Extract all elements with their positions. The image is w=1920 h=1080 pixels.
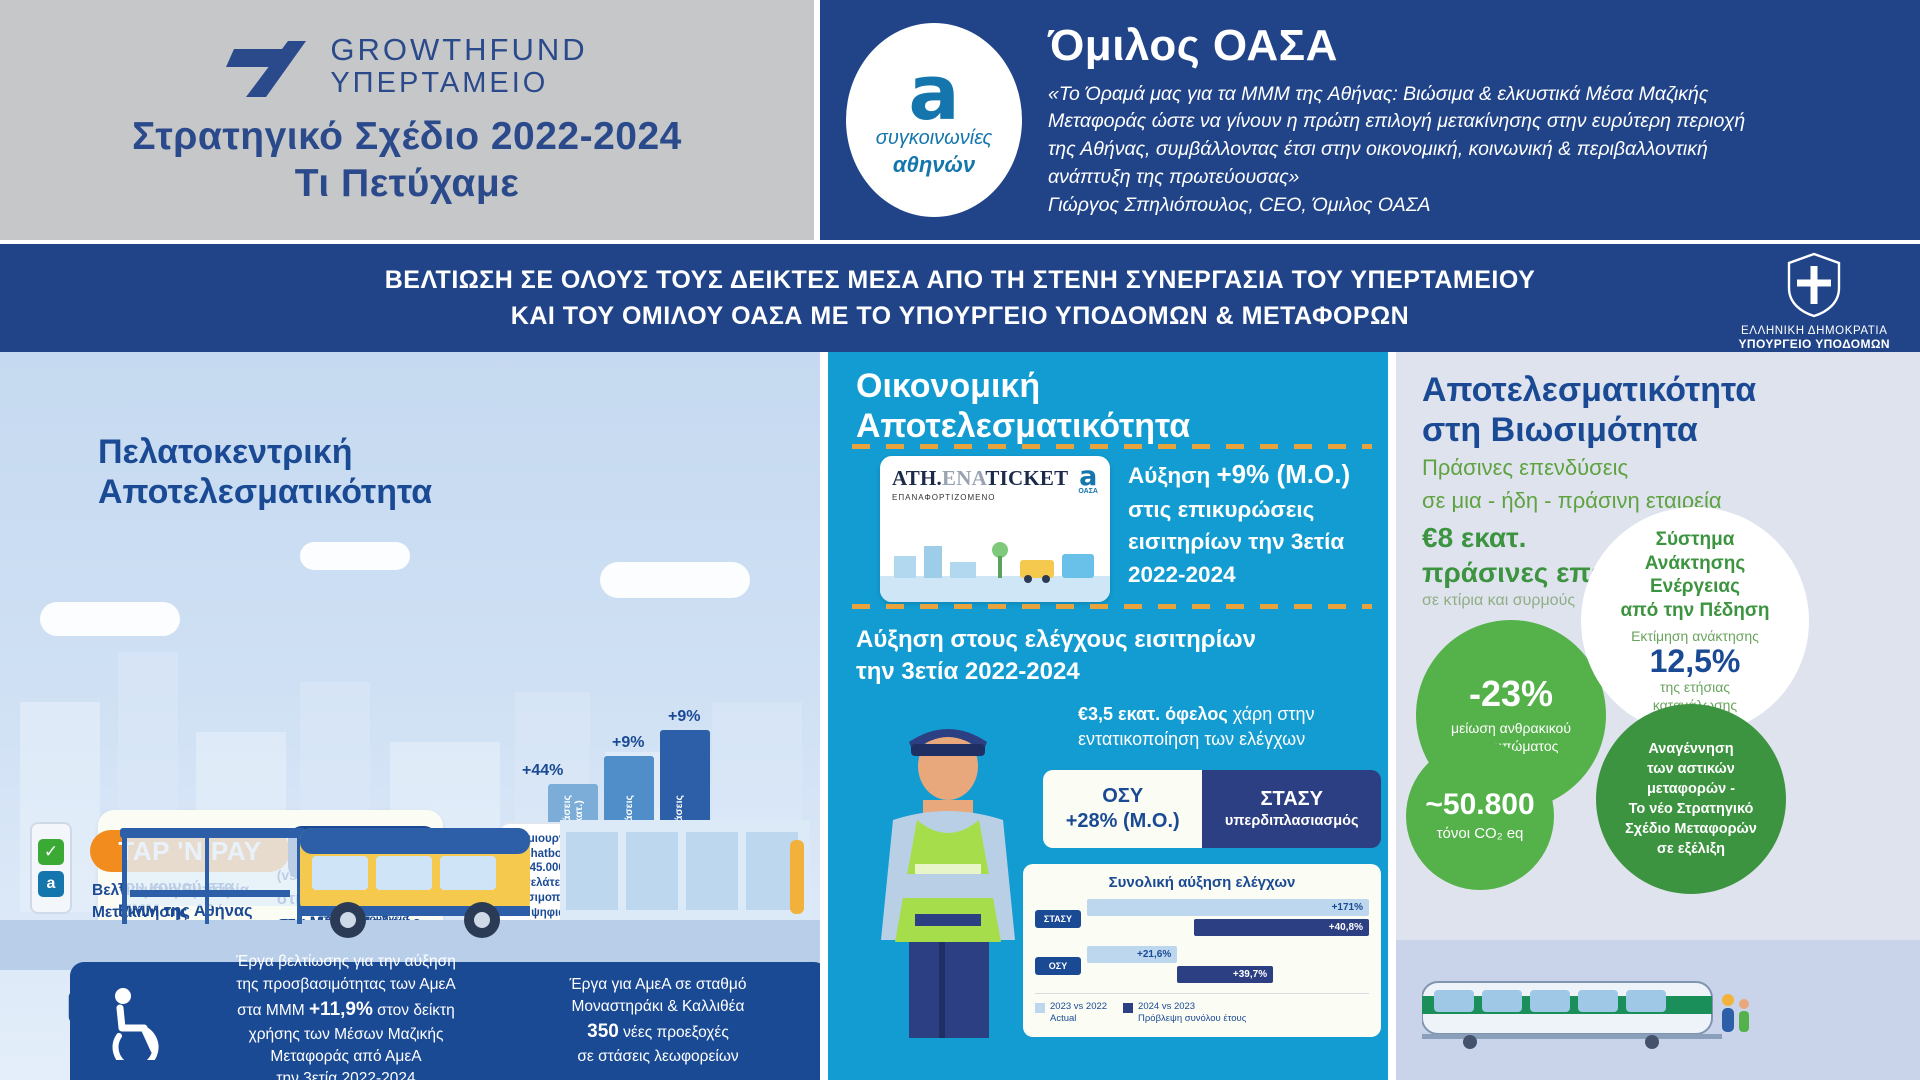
growthfund-arrow-logo xyxy=(226,35,312,97)
energy-recovery-line4: από την Πέδηση xyxy=(1620,599,1769,623)
checks-line2: την 3ετία 2022-2024 xyxy=(856,656,1376,688)
co2-tons-unit: τόνοι CO₂ eq xyxy=(1437,824,1524,844)
top-header: GROWTHFUND ΥΠΕΡΤΑΜΕΙΟ Στρατηγικό Σχέδιο … xyxy=(0,0,1920,240)
energy-recovery-line2: Ανάκτησης xyxy=(1620,552,1769,576)
oasa-badge-line1: συγκοινωνίες xyxy=(876,127,992,150)
stasy-value: υπερδιπλασιασμός xyxy=(1225,812,1359,830)
validations-line4: 2022-2024 xyxy=(1128,559,1378,592)
osy-bar-2024: +39,7% xyxy=(1177,966,1273,983)
legend-item-2023: 2023 vs 2022Actual xyxy=(1035,1001,1107,1025)
ticket-oasa-logo: a ΟΑΣΑ xyxy=(1078,466,1098,495)
osy-stasy-comparison: ΟΣΥ +28% (Μ.Ο.) ΣΤΑΣΥ υπερδιπλασιασμός xyxy=(1043,770,1381,848)
benefit-amount: €3,5 εκατ. όφελος xyxy=(1078,704,1228,724)
divider-dashed-1 xyxy=(852,444,1372,449)
page-title: Στρατηγικό Σχέδιο 2022-2024 Τι Πετύχαμε xyxy=(132,114,682,208)
page-title-line1: Στρατηγικό Σχέδιο 2022-2024 xyxy=(132,114,682,161)
osy-card: ΟΣΥ +28% (Μ.Ο.) xyxy=(1043,770,1202,848)
oasa-panel: a συγκοινωνίες αθηνών Όμιλος ΟΑΣΑ «Το Όρ… xyxy=(820,0,1920,240)
acc2-line3: 350 νέες προεξοχές xyxy=(518,1018,798,1046)
acc1-line3: στα ΜΜΜ +11,9% στον δείκτη xyxy=(196,996,496,1024)
legend-swatch-2023 xyxy=(1035,1003,1045,1013)
economic-title-line1: Οικονομική xyxy=(856,367,1040,405)
acc2-bold-value: 350 xyxy=(587,1021,619,1042)
legend-swatch-2024 xyxy=(1123,1003,1133,1013)
ticket-checks-heading: Αύξηση στους ελέγχους εισιτηρίων την 3ετ… xyxy=(856,624,1376,689)
tram-illustration xyxy=(1422,974,1752,1052)
ticket-letter-a: a xyxy=(1078,466,1098,488)
oasa-quote-author: Γιώργος Σπηλιόπουλος, CEO, Όμιλος ΟΑΣΑ xyxy=(1048,192,1745,220)
acc1-prefix: στα ΜΜΜ xyxy=(237,1002,309,1019)
economic-column-title: Οικονομική Αποτελεσματικότητα xyxy=(856,366,1356,446)
main-columns: Πελατοκεντρική Αποτελεσματικότητα +44% 4… xyxy=(0,352,1920,1080)
stasy-label: ΣΤΑΣΥ xyxy=(1260,787,1323,812)
ticket-brand-b: ENA xyxy=(942,466,985,490)
growthfund-panel: GROWTHFUND ΥΠΕΡΤΑΜΕΙΟ Στρατηγικό Σχέδιο … xyxy=(0,0,820,240)
benefit-line1: €3,5 εκατ. όφελος χάρη στην xyxy=(1078,702,1378,727)
urban-renewal-line5: Σχέδιο Μεταφορών xyxy=(1625,819,1757,839)
hellenic-republic-emblem-icon xyxy=(1785,252,1843,318)
ministry-line2: ΥΠΟΥΡΓΕΙΟ ΥΠΟΔΟΜΩΝ xyxy=(1739,337,1890,351)
oasa-text-block: Όμιλος ΟΑΣΑ «Το Όραμά μας για τα ΜΜΜ της… xyxy=(1048,21,1745,219)
checks-line1: Αύξηση στους ελέγχους εισιτηρίων xyxy=(856,624,1376,656)
acc1-line6: την 3ετία 2022-2024 xyxy=(196,1068,496,1080)
urban-renewal-line3: μεταφορών - xyxy=(1625,779,1757,799)
ticket-brand-name: ATH.ENATICKET xyxy=(892,466,1068,491)
sustainability-subtitle-line1: Πράσινες επενδύσεις xyxy=(1422,454,1862,483)
cloud-decoration xyxy=(300,542,410,570)
urban-renewal-circle: Αναγέννηση των αστικών μεταφορών - Το νέ… xyxy=(1596,704,1786,894)
oasa-logo-badge: a συγκοινωνίες αθηνών xyxy=(846,23,1022,217)
benefit-rest: χάρη στην xyxy=(1228,704,1315,724)
acc2-line4: σε στάσεις λεωφορείων xyxy=(518,1046,798,1068)
oasa-letter-a: a xyxy=(908,62,959,124)
growthfund-line1: GROWTHFUND xyxy=(330,33,587,68)
stasy-bar-2023: +171% xyxy=(1087,899,1369,916)
checks-chart-title: Συνολική αύξηση ελέγχων xyxy=(1035,874,1369,891)
osy-value: +28% (Μ.Ο.) xyxy=(1066,809,1180,834)
acc2-line1: Έργα για ΑμεΑ σε σταθμό xyxy=(518,974,798,996)
oasa-quote-line2: Μεταφοράς ώστε να γίνουν η πρώτη επιλογή… xyxy=(1048,108,1745,136)
osy-bar-2023: +21,6% xyxy=(1087,946,1177,963)
customer-column-title: Πελατοκεντρική Αποτελεσματικότητα xyxy=(98,432,498,512)
ticket-subtitle: ΕΠΑΝΑΦΟΡΤΙΖΟΜΕΝΟ xyxy=(892,493,1068,502)
validations-percent: +9% (Μ.Ο.) xyxy=(1217,459,1351,489)
validations-increase-text: Αύξηση +9% (Μ.Ο.) στις επικυρώσεις εισιτ… xyxy=(1128,456,1378,592)
wheelchair-accessibility-icon xyxy=(96,982,174,1060)
energy-recovery-title: Σύστημα Ανάκτησης Ενέργειας από την Πέδη… xyxy=(1620,528,1769,623)
urban-renewal-line1: Αναγέννηση xyxy=(1625,739,1757,759)
energy-recovery-line3: Ενέργειας xyxy=(1620,575,1769,599)
energy-recovery-value: 12,5% xyxy=(1650,644,1741,679)
divider-dashed-2 xyxy=(852,604,1372,609)
energy-recovery-circle: Σύστημα Ανάκτησης Ενέργειας από την Πέδη… xyxy=(1581,507,1809,735)
acc1-line5: Μεταφοράς από ΑμεΑ xyxy=(196,1046,496,1068)
sustainability-title-line1: Αποτελεσματικότητα xyxy=(1422,371,1756,409)
athena-ticket-card: ATH.ENATICKET ΕΠΑΝΑΦΟΡΤΙΖΟΜΕΝΟ a ΟΑΣΑ xyxy=(880,456,1110,602)
customer-title-line1: Πελατοκεντρική xyxy=(98,433,352,471)
osy-bars: +21,6% +39,7% xyxy=(1087,946,1369,986)
stasy-card: ΣΤΑΣΥ υπερδιπλασιασμός xyxy=(1202,770,1381,848)
economic-title-line2: Αποτελεσματικότητα xyxy=(856,407,1190,445)
sustainability-title-line2: στη Βιωσιμότητα xyxy=(1422,411,1698,449)
checks-benefit-text: €3,5 εκατ. όφελος χάρη στην εντατικοποίη… xyxy=(1078,702,1378,752)
osy-label: ΟΣΥ xyxy=(1102,784,1143,809)
validations-line2: στις επικυρώσεις xyxy=(1128,494,1378,527)
co2-tons-circle: ~50.800 τόνοι CO₂ eq xyxy=(1406,742,1554,890)
co2-tons-value: ~50.800 xyxy=(1425,789,1534,821)
banner-line1: ΒΕΛΤΙΩΣΗ ΣΕ ΟΛΟΥΣ ΤΟΥΣ ΔΕΙΚΤΕΣ ΜΕΣΑ ΑΠΟ … xyxy=(385,262,1536,298)
column-sustainability: Αποτελεσματικότητα στη Βιωσιμότητα Πράσι… xyxy=(1396,352,1920,1080)
ticket-city-illustration xyxy=(880,516,1110,602)
bar-growth-label-2023: +9% xyxy=(612,734,644,752)
checks-chart-row-stasy: ΣΤΑΣΥ +171% +40,8% xyxy=(1035,899,1369,939)
tram-passengers xyxy=(1722,994,1749,1032)
acc1-line2: της προσβασιμότητας των ΑμεΑ xyxy=(196,974,496,996)
benefit-line2: εντατικοποίηση των ελέγχων xyxy=(1078,727,1378,752)
ministry-line1: ΕΛΛΗΝΙΚΗ ΔΗΜΟΚΡΑΤΙΑ xyxy=(1739,325,1890,337)
banner-text: ΒΕΛΤΙΩΣΗ ΣΕ ΟΛΟΥΣ ΤΟΥΣ ΔΕΙΚΤΕΣ ΜΕΣΑ ΑΠΟ … xyxy=(385,262,1536,335)
ministry-block: ΕΛΛΗΝΙΚΗ ΔΗΜΟΚΡΑΤΙΑ ΥΠΟΥΡΓΕΙΟ ΥΠΟΔΟΜΩΝ Κ… xyxy=(1739,252,1890,365)
legend-label-2024: 2024 vs 2023Πρόβλεψη συνόλου έτους xyxy=(1138,1001,1246,1025)
column-customer-effectiveness: Πελατοκεντρική Αποτελεσματικότητα +44% 4… xyxy=(0,352,828,1080)
checks-chart-legend: 2023 vs 2022Actual 2024 vs 2023Πρόβλεψη … xyxy=(1035,993,1369,1025)
stasy-bar-2024: +40,8% xyxy=(1194,919,1369,936)
osy-row-tag: ΟΣΥ xyxy=(1035,957,1081,975)
accessibility-text-2: Έργα για ΑμεΑ σε σταθμό Μοναστηράκι & Κα… xyxy=(518,974,798,1069)
accessibility-banner: Έργα βελτίωσης για την αύξηση της προσβα… xyxy=(70,962,828,1080)
validations-line3: εισιτηρίων την 3ετία xyxy=(1128,526,1378,559)
main-banner: ΒΕΛΤΙΩΣΗ ΣΕ ΟΛΟΥΣ ΤΟΥΣ ΔΕΙΚΤΕΣ ΜΕΣΑ ΑΠΟ … xyxy=(0,240,1920,352)
growthfund-logo: GROWTHFUND ΥΠΕΡΤΑΜΕΙΟ xyxy=(226,33,587,100)
urban-renewal-line6: σε εξέλιξη xyxy=(1625,839,1757,859)
sustainability-title: Αποτελεσματικότητα στη Βιωσιμότητα xyxy=(1422,370,1862,450)
acc1-bold-value: +11,9% xyxy=(309,999,373,1020)
acc1-line1: Έργα βελτίωσης για την αύξηση xyxy=(196,951,496,973)
urban-renewal-line4: Το νέο Στρατηγικό xyxy=(1625,799,1757,819)
oasa-quote-line3: της Αθήνας, συμβάλλοντας έτσι στην οικον… xyxy=(1048,136,1745,164)
acc1-line4: χρήσης των Μέσων Μαζικής xyxy=(196,1024,496,1046)
acc2-line3-text: νέες προεξοχές xyxy=(619,1024,729,1041)
energy-recovery-line6: της ετήσιας xyxy=(1653,679,1737,697)
banner-line2: ΚΑΙ ΤΟΥ ΟΜΙΛΟΥ ΟΑΣΑ ΜΕ ΤΟ ΥΠΟΥΡΓΕΙΟ ΥΠΟΔ… xyxy=(385,298,1536,334)
ticket-brand-c: TICKET xyxy=(985,466,1068,490)
stasy-row-tag: ΣΤΑΣΥ xyxy=(1035,910,1081,928)
oasa-title: Όμιλος ΟΑΣΑ xyxy=(1048,21,1745,71)
bus-and-shelter-illustration xyxy=(0,770,828,970)
ticket-header-row: ATH.ENATICKET ΕΠΑΝΑΦΟΡΤΙΖΟΜΕΝΟ a ΟΑΣΑ xyxy=(892,466,1098,502)
customer-title-line2: Αποτελεσματικότητα xyxy=(98,473,432,511)
column-economic-effectiveness: Οικονομική Αποτελεσματικότητα ATH.ENATIC… xyxy=(828,352,1396,1080)
oasa-badge-line2: αθηνών xyxy=(893,152,975,178)
growthfund-wordmark: GROWTHFUND ΥΠΕΡΤΑΜΕΙΟ xyxy=(330,33,587,100)
oasa-quote-line4: ανάπτυξη της πρωτεύουσας» xyxy=(1048,164,1745,192)
ticket-brand-a: ATH. xyxy=(892,466,942,490)
acc1-suffix: στον δείκτη xyxy=(373,1002,455,1019)
energy-recovery-estimate-label: Εκτίμηση ανάκτησης xyxy=(1631,628,1759,644)
oasa-quote-line1: «Το Όραμά μας για τα ΜΜΜ της Αθήνας: Βιώ… xyxy=(1048,81,1745,109)
acc2-line2: Μοναστηράκι & Καλλιθέα xyxy=(518,996,798,1018)
stasy-bars: +171% +40,8% xyxy=(1087,899,1369,939)
checks-increase-chart: Συνολική αύξηση ελέγχων ΣΤΑΣΥ +171% +40,… xyxy=(1023,864,1381,1037)
growthfund-line2: ΥΠΕΡΤΑΜΕΙΟ xyxy=(330,67,587,99)
urban-renewal-line2: των αστικών xyxy=(1625,759,1757,779)
infographic-page: GROWTHFUND ΥΠΕΡΤΑΜΕΙΟ Στρατηγικό Σχέδιο … xyxy=(0,0,1920,1080)
ticket-oasa-label: ΟΑΣΑ xyxy=(1078,488,1098,495)
legend-item-2024: 2024 vs 2023Πρόβλεψη συνόλου έτους xyxy=(1123,1001,1246,1025)
checks-chart-row-osy: ΟΣΥ +21,6% +39,7% xyxy=(1035,946,1369,986)
validations-prefix: Αύξηση xyxy=(1128,463,1217,488)
carbon-reduction-line1: μείωση ανθρακικού xyxy=(1451,719,1571,737)
page-title-line2: Τι Πετύχαμε xyxy=(132,161,682,208)
carbon-reduction-value: -23% xyxy=(1469,675,1553,713)
ticket-inspector-illustration xyxy=(853,714,1043,1044)
accessibility-text-1: Έργα βελτίωσης για την αύξηση της προσβα… xyxy=(196,951,496,1080)
legend-label-2023: 2023 vs 2022Actual xyxy=(1050,1001,1107,1025)
urban-renewal-text: Αναγέννηση των αστικών μεταφορών - Το νέ… xyxy=(1611,739,1771,859)
ticket-brand: ATH.ENATICKET ΕΠΑΝΑΦΟΡΤΙΖΟΜΕΝΟ xyxy=(892,466,1068,502)
bar-growth-label-2024: +9% xyxy=(668,708,700,726)
energy-recovery-line1: Σύστημα xyxy=(1620,528,1769,552)
sustainability-subtitle-line2: σε μια - ήδη - πράσινη εταιρεία xyxy=(1422,487,1862,516)
validations-headline: Αύξηση +9% (Μ.Ο.) xyxy=(1128,456,1378,494)
